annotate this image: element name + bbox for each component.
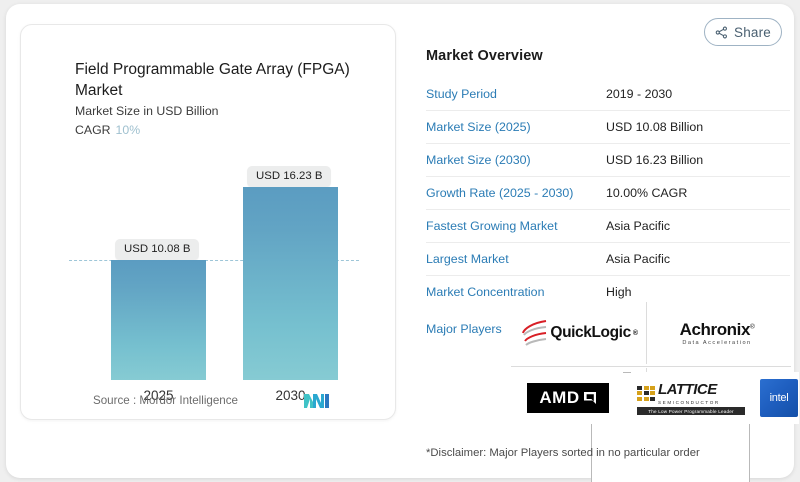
market-overview-title: Market Overview [426, 48, 790, 64]
chart-source: Source : Mordor Intelligence [93, 394, 238, 407]
logo-amd[interactable]: AMD [513, 372, 623, 424]
row-value: USD 10.08 Billion [606, 111, 790, 144]
chart-card: Field Programmable Gate Array (FPGA) Mar… [20, 24, 396, 420]
quicklogic-wordmark: QuickLogic [550, 324, 630, 342]
bar-value-label-2025: USD 10.08 B [115, 239, 199, 260]
table-row: Market Size (2030) USD 16.23 Billion [426, 144, 790, 177]
row-key: Largest Market [426, 243, 606, 276]
logo-achronix[interactable]: Achronix® Data Acceleration [651, 304, 783, 362]
bar-value-label-2030: USD 16.23 B [247, 166, 331, 187]
achronix-tagline: Data Acceleration [680, 340, 755, 346]
row-key: Growth Rate (2025 - 2030) [426, 177, 606, 210]
row-value: USD 16.23 Billion [606, 144, 790, 177]
bar-2030[interactable] [243, 187, 338, 380]
row-key: Market Size (2025) [426, 111, 606, 144]
market-overview-panel: Market Overview Study Period 2019 - 2030… [426, 48, 790, 336]
logo-divider [646, 302, 647, 364]
achronix-trademark: ® [750, 323, 754, 330]
mordor-intelligence-logo [303, 390, 331, 410]
row-value: 2019 - 2030 [606, 78, 790, 111]
page-root: Share Field Programmable Gate Array (FPG… [0, 0, 800, 482]
report-card: Share Field Programmable Gate Array (FPG… [6, 4, 794, 478]
table-row: Largest Market Asia Pacific [426, 243, 790, 276]
lattice-logo: LATTICE SEMICONDUCTOR The Low Power Prog… [637, 381, 745, 415]
logo-divider [511, 366, 791, 367]
market-overview-table: Study Period 2019 - 2030 Market Size (20… [426, 78, 790, 308]
quicklogic-logo: QuickLogic® [522, 318, 637, 348]
row-key: Study Period [426, 78, 606, 111]
achronix-logo: Achronix® Data Acceleration [680, 321, 755, 346]
lattice-sub: SEMICONDUCTOR [658, 400, 720, 405]
logo-intel[interactable]: intel [759, 372, 799, 424]
table-row: Market Size (2025) USD 10.08 Billion [426, 111, 790, 144]
lattice-wordmark: LATTICE [658, 381, 717, 398]
share-button-label: Share [734, 25, 771, 40]
table-row: Growth Rate (2025 - 2030) 10.00% CAGR [426, 177, 790, 210]
achronix-wordmark: Achronix [680, 320, 750, 339]
table-row: Study Period 2019 - 2030 [426, 78, 790, 111]
share-nodes-icon [715, 26, 728, 39]
row-key: Market Size (2030) [426, 144, 606, 177]
disclaimer-text: *Disclaimer: Major Players sorted in no … [426, 447, 700, 459]
quicklogic-swoosh-icon [522, 318, 548, 348]
intel-logo: intel [760, 379, 798, 417]
amd-logo: AMD [527, 383, 609, 413]
logo-lattice[interactable]: LATTICE SEMICONDUCTOR The Low Power Prog… [631, 372, 751, 424]
bar-2025[interactable] [111, 260, 206, 380]
amd-arrow-icon [583, 391, 597, 405]
intel-wordmark: intel [770, 392, 789, 404]
lattice-tagline: The Low Power Programmable Leader [637, 407, 745, 415]
row-value: 10.00% CAGR [606, 177, 790, 210]
bar-chart-plot: USD 10.08 B USD 16.23 B 2025 2030 [21, 25, 397, 421]
row-value: Asia Pacific [606, 210, 790, 243]
quicklogic-trademark: ® [633, 330, 638, 337]
major-players-logos: QuickLogic® Achronix® Data Acceleration … [511, 302, 791, 428]
amd-wordmark: AMD [539, 388, 579, 408]
row-key: Fastest Growing Market [426, 210, 606, 243]
row-value: Asia Pacific [606, 243, 790, 276]
logo-quicklogic[interactable]: QuickLogic® [517, 304, 643, 362]
lattice-blocks-icon [637, 386, 655, 401]
share-button[interactable]: Share [704, 18, 782, 46]
table-row: Fastest Growing Market Asia Pacific [426, 210, 790, 243]
